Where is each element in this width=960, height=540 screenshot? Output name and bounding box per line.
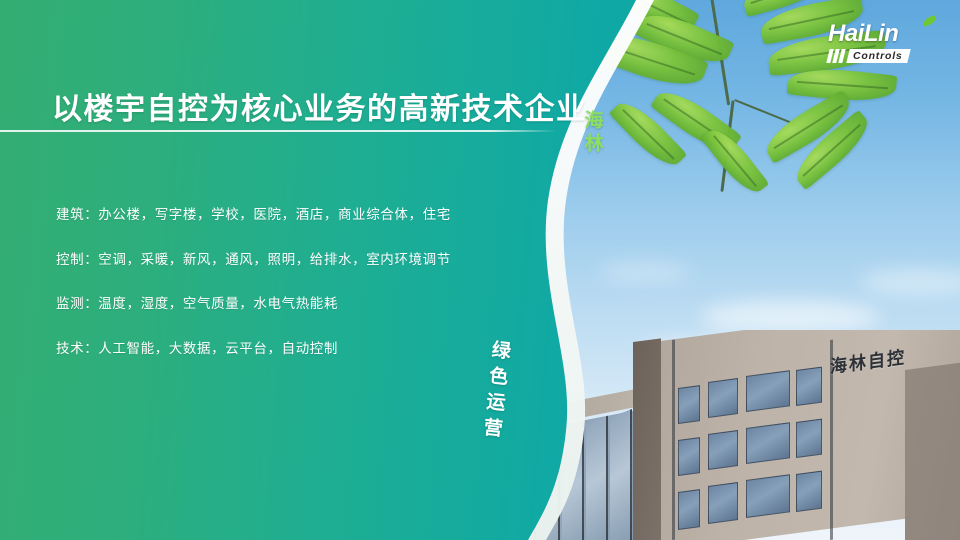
title-divider [0,130,556,132]
logo-subtitle-row: Controls [828,49,940,63]
logo-subtitle-chip: Controls [846,49,910,63]
bars-icon [828,49,844,63]
list-item: 监测：温度，湿度，空气质量，水电气热能耗 [56,297,526,311]
list-item: 控制：空调，采暖，新风，通风，照明，给排水，室内环境调节 [56,253,526,267]
cloud-shape [600,262,690,282]
cloud-shape [700,300,880,334]
building-side-block [905,354,960,540]
cloud-shape [860,268,960,296]
logo-wordmark: HaiLin [828,22,940,46]
building-pier [633,338,661,540]
page-title: 以楼宇自控为核心业务的高新技术企业 [52,84,588,128]
slide-root: 海林自控 以楼宇自控为核心业务的高新技术企业 建筑：办公楼，写字楼，学校，医院，… [0,0,960,540]
bullet-list: 建筑：办公楼，写字楼，学校，医院，酒店，商业综合体，住宅 控制：空调，采暖，新风… [56,208,526,355]
list-item: 技术：人工智能，大数据，云平台，自动控制 [56,342,526,356]
logo-wordmark-text: HaiLin [828,20,898,47]
logo-subtitle-text: Controls [853,50,903,62]
list-item: 建筑：办公楼，写字楼，学校，医院，酒店，商业综合体，住宅 [56,208,526,222]
hailin-logo: HaiLin Controls [828,22,940,64]
vertical-brand-text: 海林 [578,110,606,156]
